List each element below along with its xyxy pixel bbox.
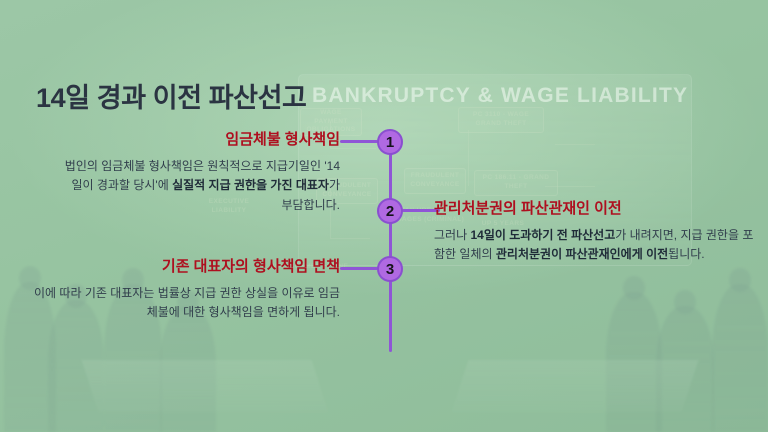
background-connector-line: [468, 130, 469, 186]
timeline-body-1: 법인의 임금체불 형사책임은 원칙적으로 지급기일인 '14일이 경과할 당시'…: [60, 157, 340, 215]
timeline-heading-1: 임금체불 형사책임: [60, 131, 340, 150]
timeline-heading-3: 기존 대표자의 형사책임 면책: [30, 258, 340, 277]
timeline-node-1[interactable]: 1: [377, 129, 403, 155]
timeline-connector-1: [340, 140, 378, 143]
background-connector-line: [555, 144, 595, 145]
background-connector-line: [330, 238, 370, 239]
page-title: 14일 경과 이전 파산선고: [36, 76, 307, 115]
timeline-body-3: 이에 따라 기존 대표자는 법률상 지급 권한 상실을 이유로 임금체불에 대한…: [30, 284, 340, 323]
background-flow-box: FRAUDULENT CONVEYANCE: [404, 168, 466, 194]
timeline-body-2: 그러나 14일이 도과하기 전 파산선고가 내려지면, 지급 권한을 포함한 일…: [434, 226, 754, 265]
timeline-node-2[interactable]: 2: [377, 198, 403, 224]
timeline-item-3: 기존 대표자의 형사책임 면책 이에 따라 기존 대표자는 법률상 지급 권한 …: [30, 258, 340, 323]
timeline-item-1: 임금체불 형사책임 법인의 임금체불 형사책임은 원칙적으로 지급기일인 '14…: [60, 131, 340, 215]
background-screen-heading: BANKRUPTCY & WAGE LIABILITY: [312, 84, 682, 108]
background-flow-box: PC 186.11 - GRAND THEFT: [474, 170, 558, 196]
slide-canvas: WAGE PAYMENT OBLIGATIONS PC 3110 - WAGE …: [0, 0, 768, 432]
timeline-item-2: 관리처분권의 파산관재인 이전 그러나 14일이 도과하기 전 파산선고가 내려…: [434, 200, 754, 265]
timeline-heading-2: 관리처분권의 파산관재인 이전: [434, 200, 754, 219]
background-flow-box: PC 3110 - WAGE GRAND THEFT: [458, 107, 544, 133]
timeline-axis: [389, 136, 392, 352]
timeline-node-3[interactable]: 3: [377, 256, 403, 282]
timeline-connector-3: [340, 267, 378, 270]
